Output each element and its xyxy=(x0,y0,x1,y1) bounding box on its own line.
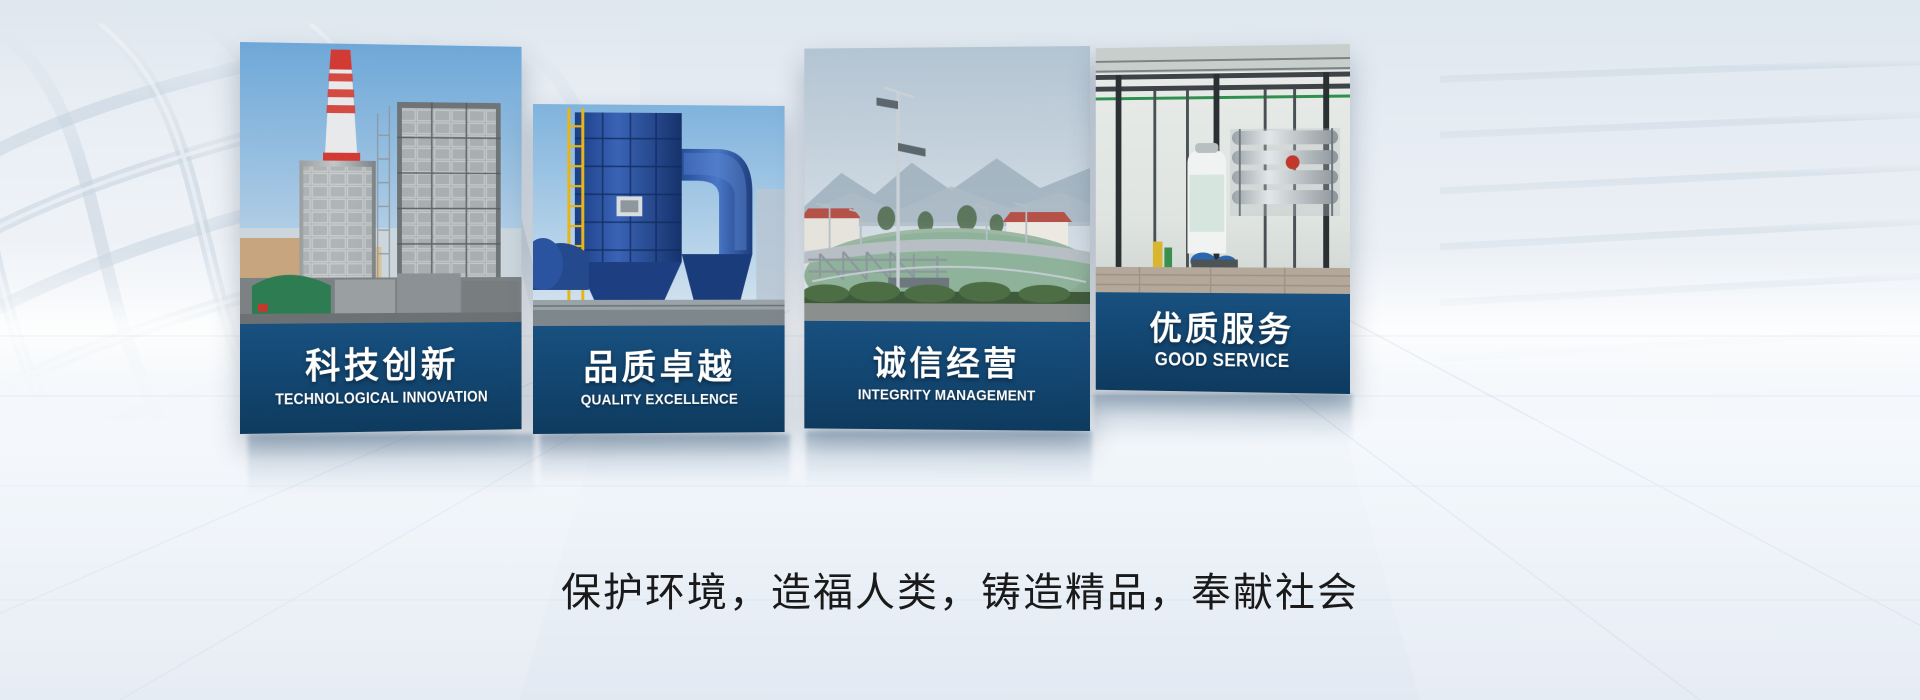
card-caption: 科技创新 TECHNOLOGICAL INNOVATION xyxy=(240,322,522,434)
feature-card-quality-excellence[interactable]: 品质卓越 QUALITY EXCELLENCE xyxy=(533,104,785,434)
card-title-en: INTEGRITY MANAGEMENT xyxy=(858,387,1036,405)
card-title-en: QUALITY EXCELLENCE xyxy=(581,391,738,408)
card-title-cn: 优质服务 xyxy=(1149,312,1294,349)
card-photo-industrial-chimney-plant xyxy=(240,42,522,324)
card-photo-wastewater-treatment-plant xyxy=(804,46,1090,322)
card-title-cn: 科技创新 xyxy=(305,347,459,386)
feature-card-technological-innovation[interactable]: 科技创新 TECHNOLOGICAL INNOVATION xyxy=(240,42,522,434)
banner-stage: 科技创新 TECHNOLOGICAL INNOVATION xyxy=(0,0,1920,700)
card-title-en: TECHNOLOGICAL INNOVATION xyxy=(275,389,488,409)
card-title-cn: 品质卓越 xyxy=(583,350,735,387)
card-caption: 优质服务 GOOD SERVICE xyxy=(1096,292,1350,394)
card-caption: 诚信经营 INTEGRITY MANAGEMENT xyxy=(804,321,1090,431)
card-photo-blue-dust-collector-equipment xyxy=(533,104,785,326)
card-title-en: GOOD SERVICE xyxy=(1154,350,1289,372)
banner-tagline: 保护环境，造福人类，铸造精品，奉献社会 xyxy=(0,560,1920,618)
card-photo-water-purification-room xyxy=(1096,44,1350,294)
card-caption: 品质卓越 QUALITY EXCELLENCE xyxy=(533,325,785,434)
card-title-cn: 诚信经营 xyxy=(873,347,1020,383)
feature-card-good-service[interactable]: 优质服务 GOOD SERVICE xyxy=(1096,44,1350,394)
feature-card-integrity-management[interactable]: 诚信经营 INTEGRITY MANAGEMENT xyxy=(804,46,1090,431)
